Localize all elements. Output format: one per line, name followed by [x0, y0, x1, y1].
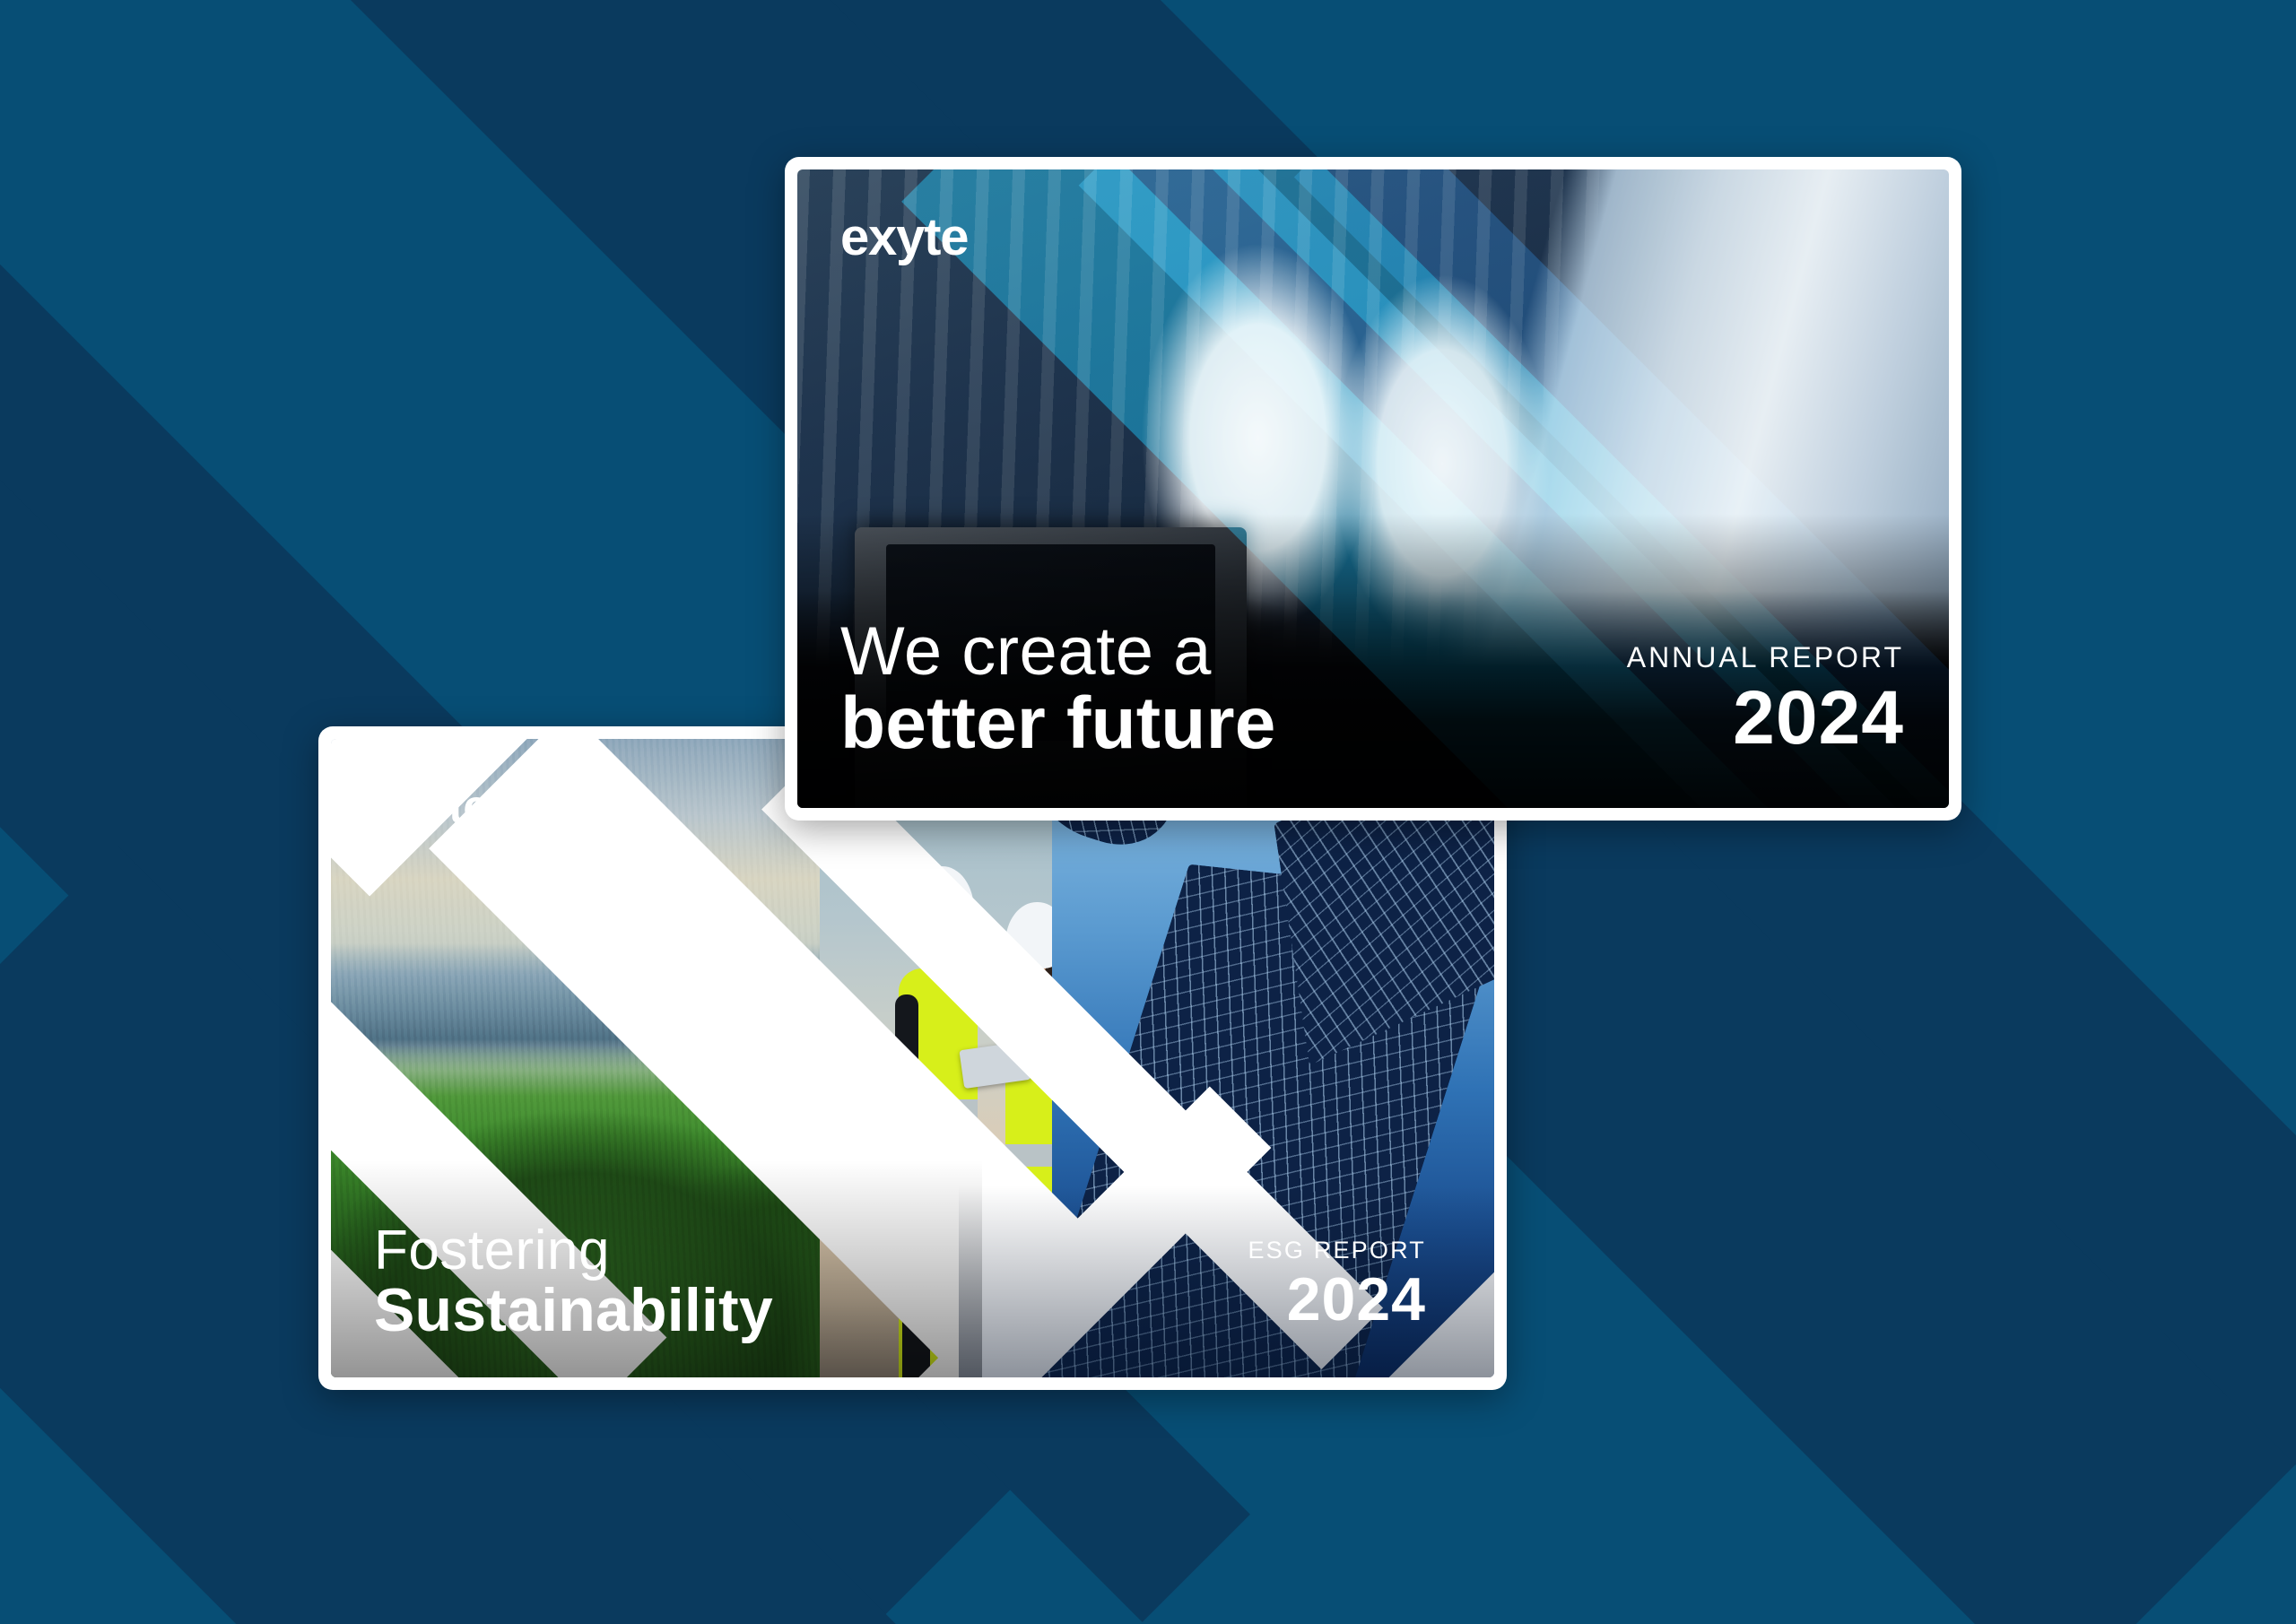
esg-headline-line2: Sustainability	[374, 1280, 773, 1342]
exyte-logo-annual: exyte	[840, 207, 968, 267]
annual-report-year: 2024	[1627, 674, 1904, 761]
annual-card-artwork: exyte We create a better future ANNUAL R…	[797, 169, 1949, 808]
exyte-logo-esg: exyte	[374, 780, 488, 834]
esg-headline-line1: Fostering	[374, 1222, 773, 1279]
esg-report-year: 2024	[1248, 1264, 1426, 1334]
annual-report-tag: ANNUAL REPORT 2024	[1627, 641, 1904, 761]
esg-report-card[interactable]: exyte Fostering Sustainability ESG REPOR…	[318, 726, 1507, 1390]
esg-headline: Fostering Sustainability	[374, 1222, 773, 1342]
annual-headline-line2: better future	[840, 686, 1276, 761]
annual-headline-line1: We create a	[840, 617, 1276, 687]
esg-report-tag: ESG REPORT 2024	[1248, 1237, 1426, 1334]
promo-composition: exyte Fostering Sustainability ESG REPOR…	[0, 0, 2296, 1624]
esg-card-artwork: exyte Fostering Sustainability ESG REPOR…	[331, 739, 1494, 1377]
annual-headline: We create a better future	[840, 617, 1276, 761]
annual-report-card[interactable]: exyte We create a better future ANNUAL R…	[785, 157, 1961, 821]
annual-report-kicker: ANNUAL REPORT	[1627, 641, 1904, 674]
esg-report-kicker: ESG REPORT	[1248, 1237, 1426, 1264]
